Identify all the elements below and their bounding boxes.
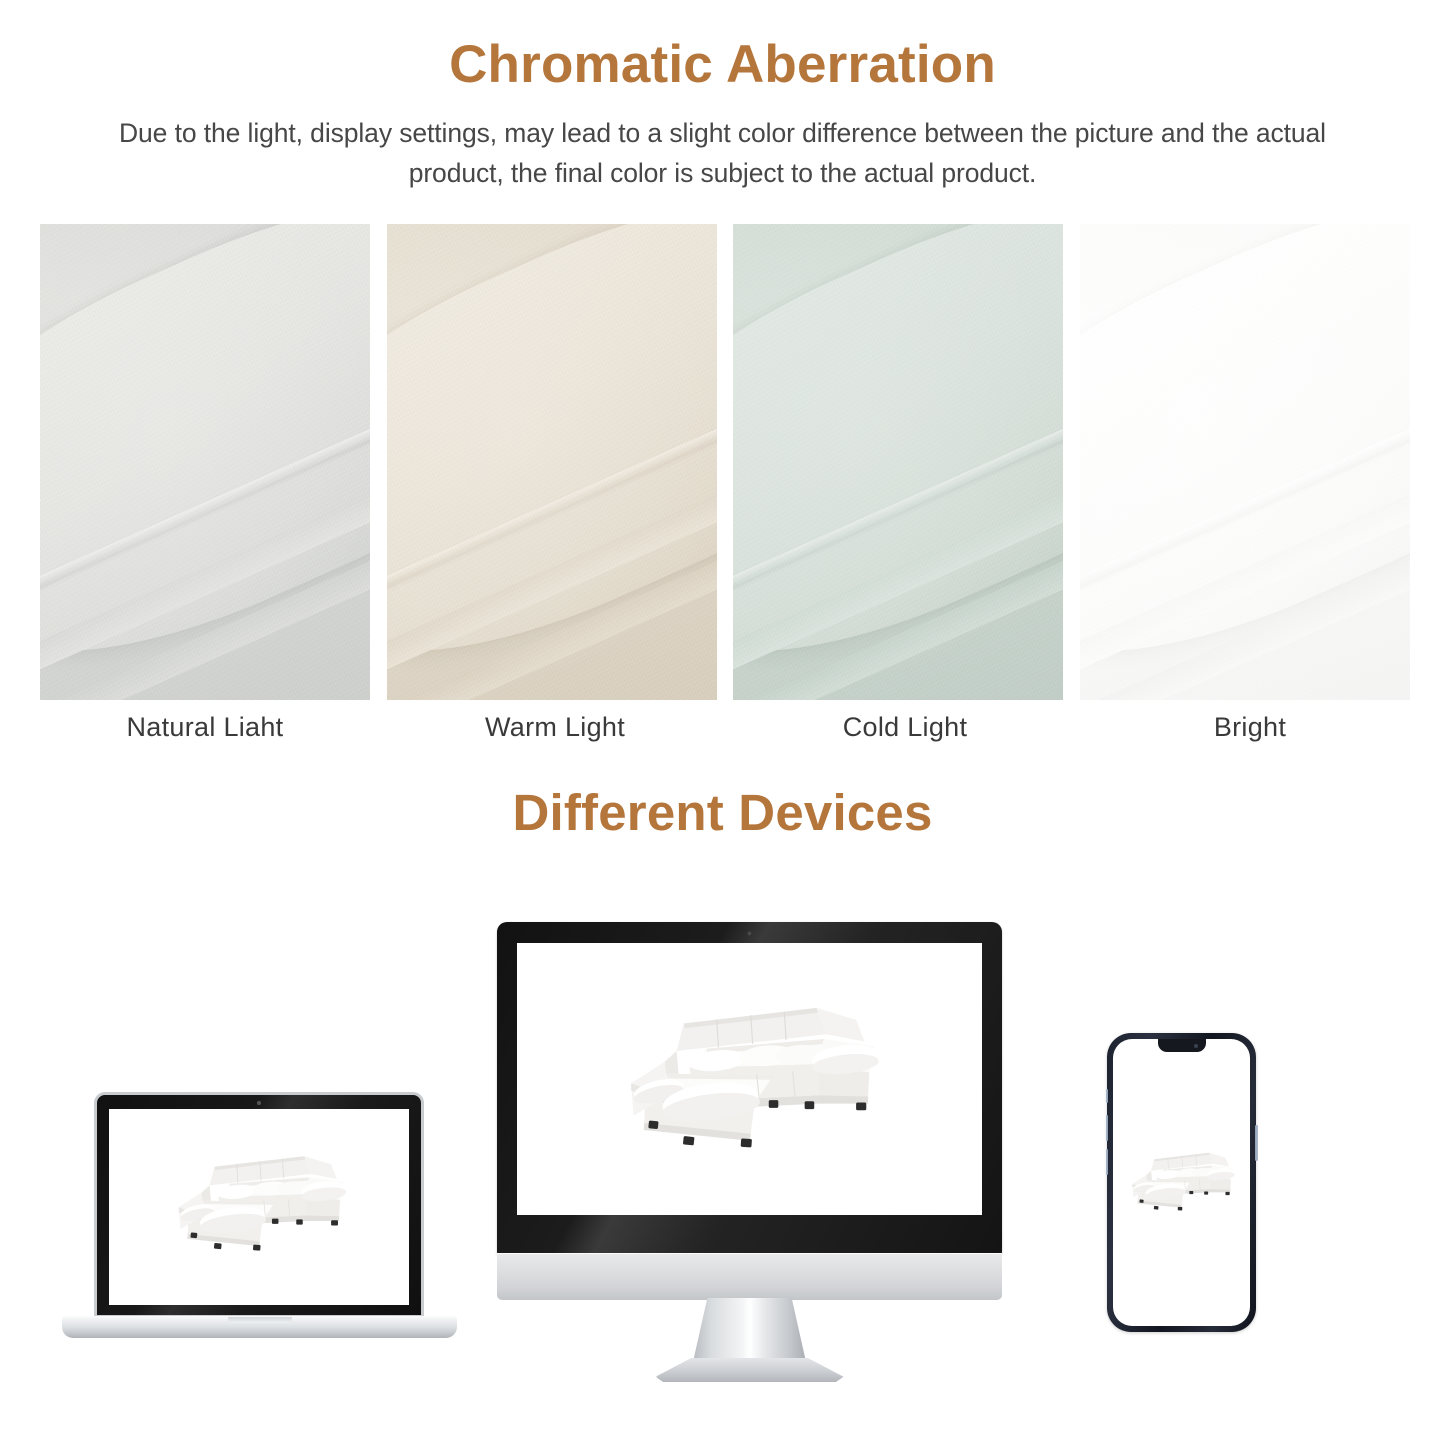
swatch-panel-natural-light [40,224,370,700]
monitor-screen [517,943,982,1215]
swatch-label-bright: Bright [1090,712,1410,743]
phone-mute-switch[interactable] [1106,1089,1109,1103]
page-title: Chromatic Aberration [0,0,1445,91]
chromatic-aberration-swatches [40,224,1410,700]
phone-notch [1158,1039,1206,1052]
fabric-closeup-image [40,224,370,700]
swatch-panel-warm-light [387,224,717,700]
device-laptop [62,1092,457,1362]
swatch-panel-cold-light [733,224,1063,700]
product-image-sofa [1117,1137,1246,1223]
laptop-lid [94,1092,424,1318]
device-monitor [497,922,1002,1382]
swatch-label-natural-light: Natural Liaht [40,712,370,743]
monitor-stand-base [656,1358,844,1382]
phone-power-button[interactable] [1255,1125,1258,1161]
laptop-camera-icon [257,1101,261,1105]
laptop-screen [109,1109,409,1305]
monitor-chin [497,1253,1002,1300]
monitor-bezel [497,922,1002,1255]
monitor-stand-neck [693,1298,807,1364]
phone-camera-icon [1194,1044,1198,1048]
phone-volume-up-button[interactable] [1106,1115,1109,1141]
device-phone [1107,1033,1256,1332]
monitor-camera-icon [747,931,752,936]
laptop-notch [228,1317,292,1323]
page-subtitle: Due to the light, display settings, may … [108,113,1338,194]
fabric-closeup-image [1080,224,1410,700]
fabric-closeup-image [733,224,1063,700]
product-image-sofa [130,1140,388,1262]
product-image-sofa [545,984,954,1164]
fabric-closeup-image [387,224,717,700]
device-mockups [0,880,1445,1400]
devices-section-title: Different Devices [0,783,1445,842]
swatch-label-warm-light: Warm Light [390,712,720,743]
phone-volume-down-button[interactable] [1106,1149,1109,1175]
swatch-panel-bright [1080,224,1410,700]
swatch-label-cold-light: Cold Light [740,712,1070,743]
phone-screen [1113,1039,1250,1326]
